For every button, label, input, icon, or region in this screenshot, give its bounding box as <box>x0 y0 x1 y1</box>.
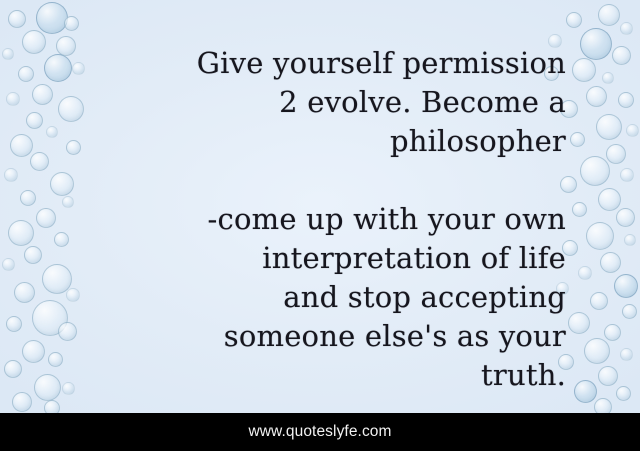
quote-card: Give yourself permission2 evolve. Become… <box>0 0 640 451</box>
bubble-icon <box>614 274 638 298</box>
bubble-icon <box>12 392 32 412</box>
bubble-icon <box>590 292 608 310</box>
bubble-icon <box>6 316 22 332</box>
bubble-icon <box>600 252 621 273</box>
quote-line: -come up with your own <box>42 200 566 239</box>
bubble-icon <box>14 282 35 303</box>
bubble-icon <box>566 12 582 28</box>
bubble-icon <box>624 234 636 246</box>
bubble-icon <box>2 258 15 271</box>
bubble-icon <box>572 58 596 82</box>
bubble-icon <box>2 48 14 60</box>
bubble-icon <box>8 10 26 28</box>
quote-line: philosopher <box>42 122 566 161</box>
bubble-icon <box>580 28 612 60</box>
bubble-icon <box>568 312 590 334</box>
bubble-icon <box>8 220 34 246</box>
bubble-icon <box>596 114 622 140</box>
bubble-icon <box>620 348 633 361</box>
bubble-icon <box>618 92 634 108</box>
bubble-icon <box>620 168 634 182</box>
quote-line: interpretation of life <box>42 239 566 278</box>
bubble-icon <box>598 188 621 211</box>
bubble-icon <box>612 46 631 65</box>
bubble-icon <box>586 86 607 107</box>
bubble-icon <box>578 266 592 280</box>
bubble-icon <box>626 124 639 137</box>
quote-paragraph-gap <box>42 161 566 200</box>
bubble-icon <box>604 324 621 341</box>
quote-line: truth. <box>42 356 566 395</box>
bubble-icon <box>64 16 79 31</box>
bubble-icon <box>4 168 18 182</box>
bubble-icon <box>26 112 43 129</box>
bubble-icon <box>24 246 42 264</box>
footer-bar: www.quoteslyfe.com <box>0 413 640 451</box>
bubble-icon <box>602 72 614 84</box>
quote-line: someone else's as your <box>42 317 566 356</box>
site-url-label: www.quoteslyfe.com <box>248 423 391 441</box>
quote-line: Give yourself permission <box>42 44 566 83</box>
bubble-icon <box>584 338 610 364</box>
bubble-icon <box>598 4 620 26</box>
bubble-icon <box>20 190 36 206</box>
quote-line: 2 evolve. Become a <box>42 83 566 122</box>
bubble-icon <box>574 380 597 403</box>
bubble-icon <box>616 386 631 401</box>
bubble-icon <box>18 66 34 82</box>
bubble-icon <box>570 132 585 147</box>
bubble-icon <box>572 202 587 217</box>
bubble-icon <box>622 304 637 319</box>
bubble-icon <box>580 156 610 186</box>
bubble-icon <box>586 222 614 250</box>
bubble-icon <box>598 366 618 386</box>
bubble-icon <box>4 360 22 378</box>
bubble-icon <box>606 144 626 164</box>
quote-line: and stop accepting <box>42 278 566 317</box>
bubble-icon <box>616 208 635 227</box>
bubble-icon <box>36 2 68 34</box>
bubble-icon <box>6 92 20 106</box>
quote-text: Give yourself permission2 evolve. Become… <box>42 44 566 395</box>
bubble-icon <box>620 22 633 35</box>
bubble-icon <box>10 134 33 157</box>
